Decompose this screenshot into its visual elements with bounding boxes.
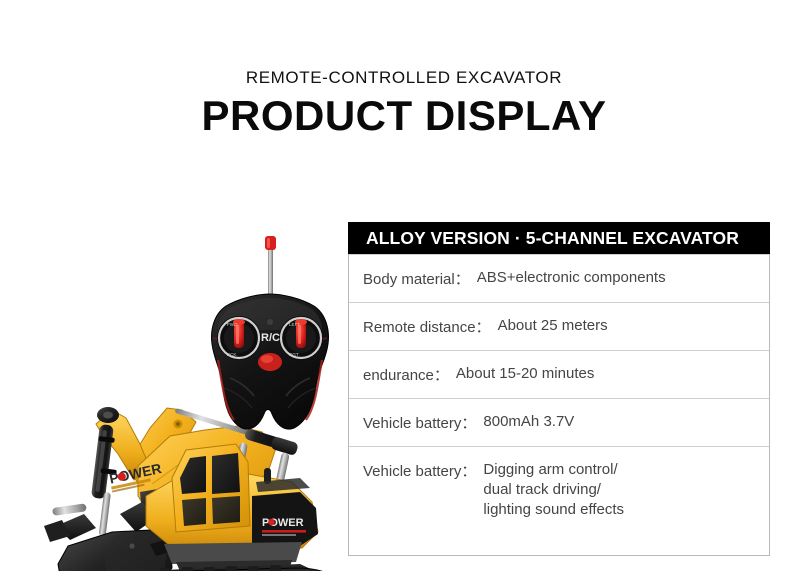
product-display-page: REMOTE-CONTROLLED EXCAVATOR PRODUCT DISP… — [0, 0, 790, 587]
spec-table: ALLOY VERSION · 5-CHANNEL EXCAVATOR Body… — [348, 222, 770, 556]
spec-value: ABS+electronic components — [470, 268, 759, 288]
remote-left-joystick: FWD BCK — [217, 316, 261, 360]
svg-text:LEFT: LEFT — [289, 322, 300, 327]
spec-value: 800mAh 3.7V — [476, 412, 759, 432]
spec-value: About 15-20 minutes — [449, 364, 759, 384]
excavator-graphic: POWER — [44, 407, 342, 571]
remote-control-graphic: FWD BCK LEFT RGT R/C — [212, 236, 329, 429]
table-row: Vehicle battery： Digging arm control/ du… — [349, 446, 769, 555]
table-row: Remote distance： About 25 meters — [349, 302, 769, 350]
spec-label: Remote distance： — [363, 316, 491, 337]
page-subtitle-text: REMOTE-CONTROLLED EXCAVATOR — [228, 68, 562, 87]
table-row: Body material： ABS+electronic components — [349, 254, 769, 302]
spec-value: Digging arm control/ dual track driving/… — [476, 460, 759, 519]
remote-antenna — [268, 248, 273, 298]
spec-label: Vehicle battery： — [363, 412, 476, 433]
excavator-cab-brand-text: POWER — [262, 517, 304, 529]
table-row: Vehicle battery： 800mAh 3.7V — [349, 398, 769, 446]
product-photo-graphic: POWER — [0, 196, 350, 571]
svg-text:RGT: RGT — [289, 352, 299, 357]
svg-text:BCK: BCK — [227, 352, 237, 357]
spec-value: About 25 meters — [491, 316, 759, 336]
spec-label: Vehicle battery： — [363, 460, 476, 481]
page-title-text: PRODUCT DISPLAY — [183, 92, 606, 139]
page-title: PRODUCT DISPLAY — [0, 92, 790, 140]
product-photo: remote-controlled toy excavator, yellow … — [0, 196, 350, 571]
remote-brand-text: R/C — [261, 332, 280, 344]
remote-right-joystick: LEFT RGT — [279, 316, 323, 360]
spec-table-header: ALLOY VERSION · 5-CHANNEL EXCAVATOR — [348, 222, 770, 254]
remote-led — [267, 319, 273, 325]
spec-label: endurance： — [363, 364, 449, 385]
svg-text:FWD: FWD — [227, 322, 238, 327]
page-subtitle: REMOTE-CONTROLLED EXCAVATOR — [0, 68, 790, 88]
table-row: endurance： About 15-20 minutes — [349, 350, 769, 398]
spec-label: Body material： — [363, 268, 470, 289]
